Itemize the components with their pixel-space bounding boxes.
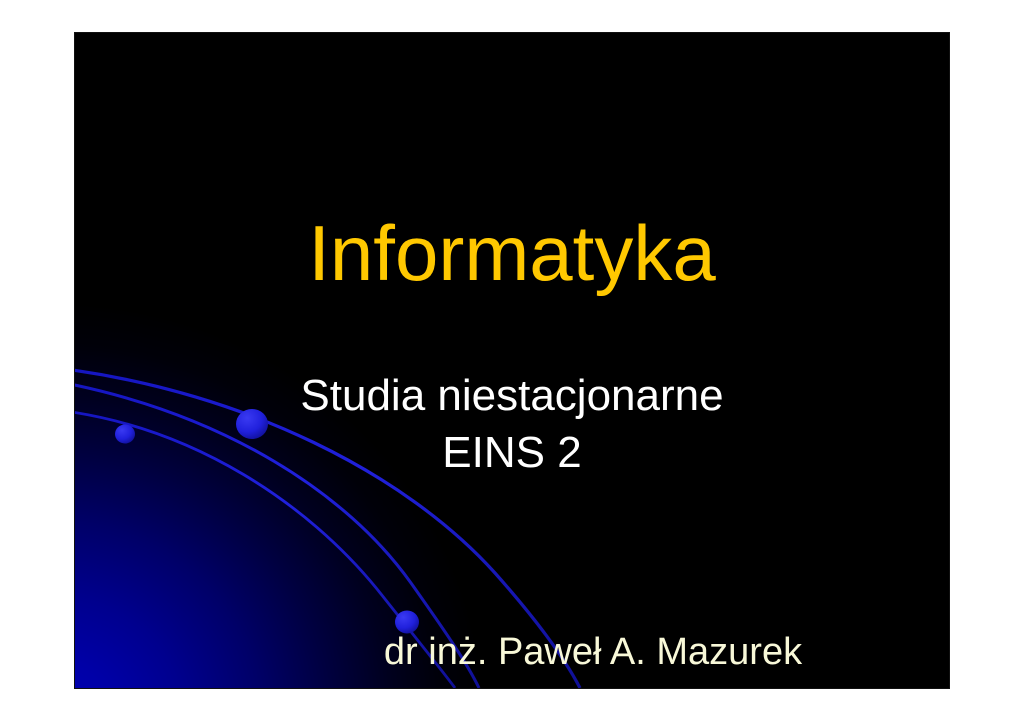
- slide-title: Informatyka: [75, 210, 949, 297]
- page-canvas: Informatyka Studia niestacjonarne EINS 2…: [0, 0, 1024, 724]
- subtitle-line-course-code: EINS 2: [75, 428, 949, 477]
- subtitle-line-program: Studia niestacjonarne: [75, 371, 949, 420]
- presentation-slide: Informatyka Studia niestacjonarne EINS 2…: [75, 33, 949, 688]
- slide-subtitle: Studia niestacjonarne EINS 2: [75, 371, 949, 478]
- blue-corner-glow: [75, 33, 949, 688]
- slide-author: dr inż. Paweł A. Mazurek: [75, 631, 949, 674]
- decorative-arcs-graphic: [75, 33, 949, 688]
